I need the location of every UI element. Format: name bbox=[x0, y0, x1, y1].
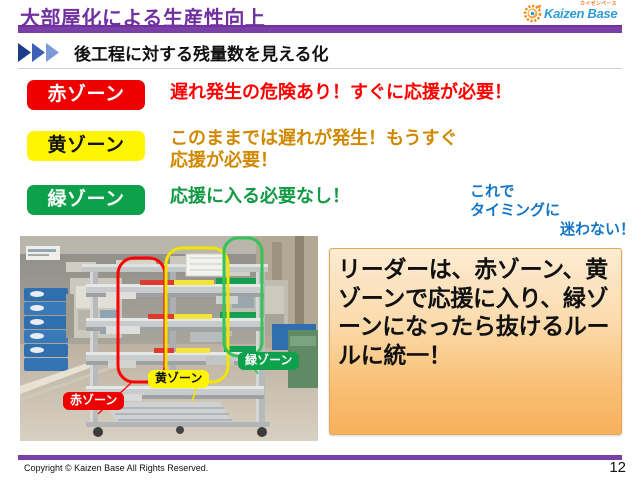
zone-description-red: 遅れ発生の危険あり！すぐに応援が必要！ bbox=[170, 82, 512, 104]
slide-root: 大部屋化による生産性向上 カイゼンベース Kaizen Base bbox=[0, 0, 640, 480]
gear-eye-icon bbox=[522, 3, 543, 24]
factory-photo bbox=[20, 236, 318, 441]
footer-copyright: Copyright © Kaizen Base All Rights Reser… bbox=[24, 463, 208, 473]
zone-badge-green: 緑ゾーン bbox=[27, 185, 145, 215]
rule-callout-text: リーダーは、赤ゾーン、黄ゾーンで応援に入り、緑ゾーンになったら抜けるルールに統一… bbox=[338, 255, 616, 369]
footer-accent-bar bbox=[18, 455, 622, 460]
tagline-line-1: これで bbox=[470, 182, 635, 201]
logo-wordmark: Kaizen Base bbox=[544, 6, 617, 21]
page-number: 12 bbox=[609, 459, 626, 476]
zone-description-yellow: このままでは遅れが発生！もうすぐ応援が必要！ bbox=[170, 128, 470, 172]
rule-callout-box: リーダーは、赤ゾーン、黄ゾーンで応援に入り、緑ゾーンになったら抜けるルールに統一… bbox=[329, 248, 622, 435]
tagline-line-3: 迷わない！ bbox=[470, 220, 635, 239]
zone-description-green: 応援に入る必要なし！ bbox=[170, 186, 350, 208]
photo-label-green: 緑ゾーン bbox=[238, 352, 299, 370]
photo-label-red: 赤ゾーン bbox=[63, 392, 124, 410]
subtitle-text: 後工程に対する残量数を見える化 bbox=[74, 40, 329, 65]
tagline: これで タイミングに 迷わない！ bbox=[470, 182, 635, 240]
triple-chevron-icon bbox=[18, 43, 68, 62]
tagline-line-2: タイミングに bbox=[470, 201, 635, 220]
photo-label-yellow: 黄ゾーン bbox=[148, 370, 209, 388]
brand-logo: カイゼンベース Kaizen Base bbox=[522, 1, 634, 26]
zone-badge-yellow: 黄ゾーン bbox=[27, 131, 145, 161]
header-accent-bar bbox=[18, 27, 622, 33]
subtitle-divider bbox=[18, 68, 622, 69]
zone-badge-red: 赤ゾーン bbox=[27, 80, 145, 110]
